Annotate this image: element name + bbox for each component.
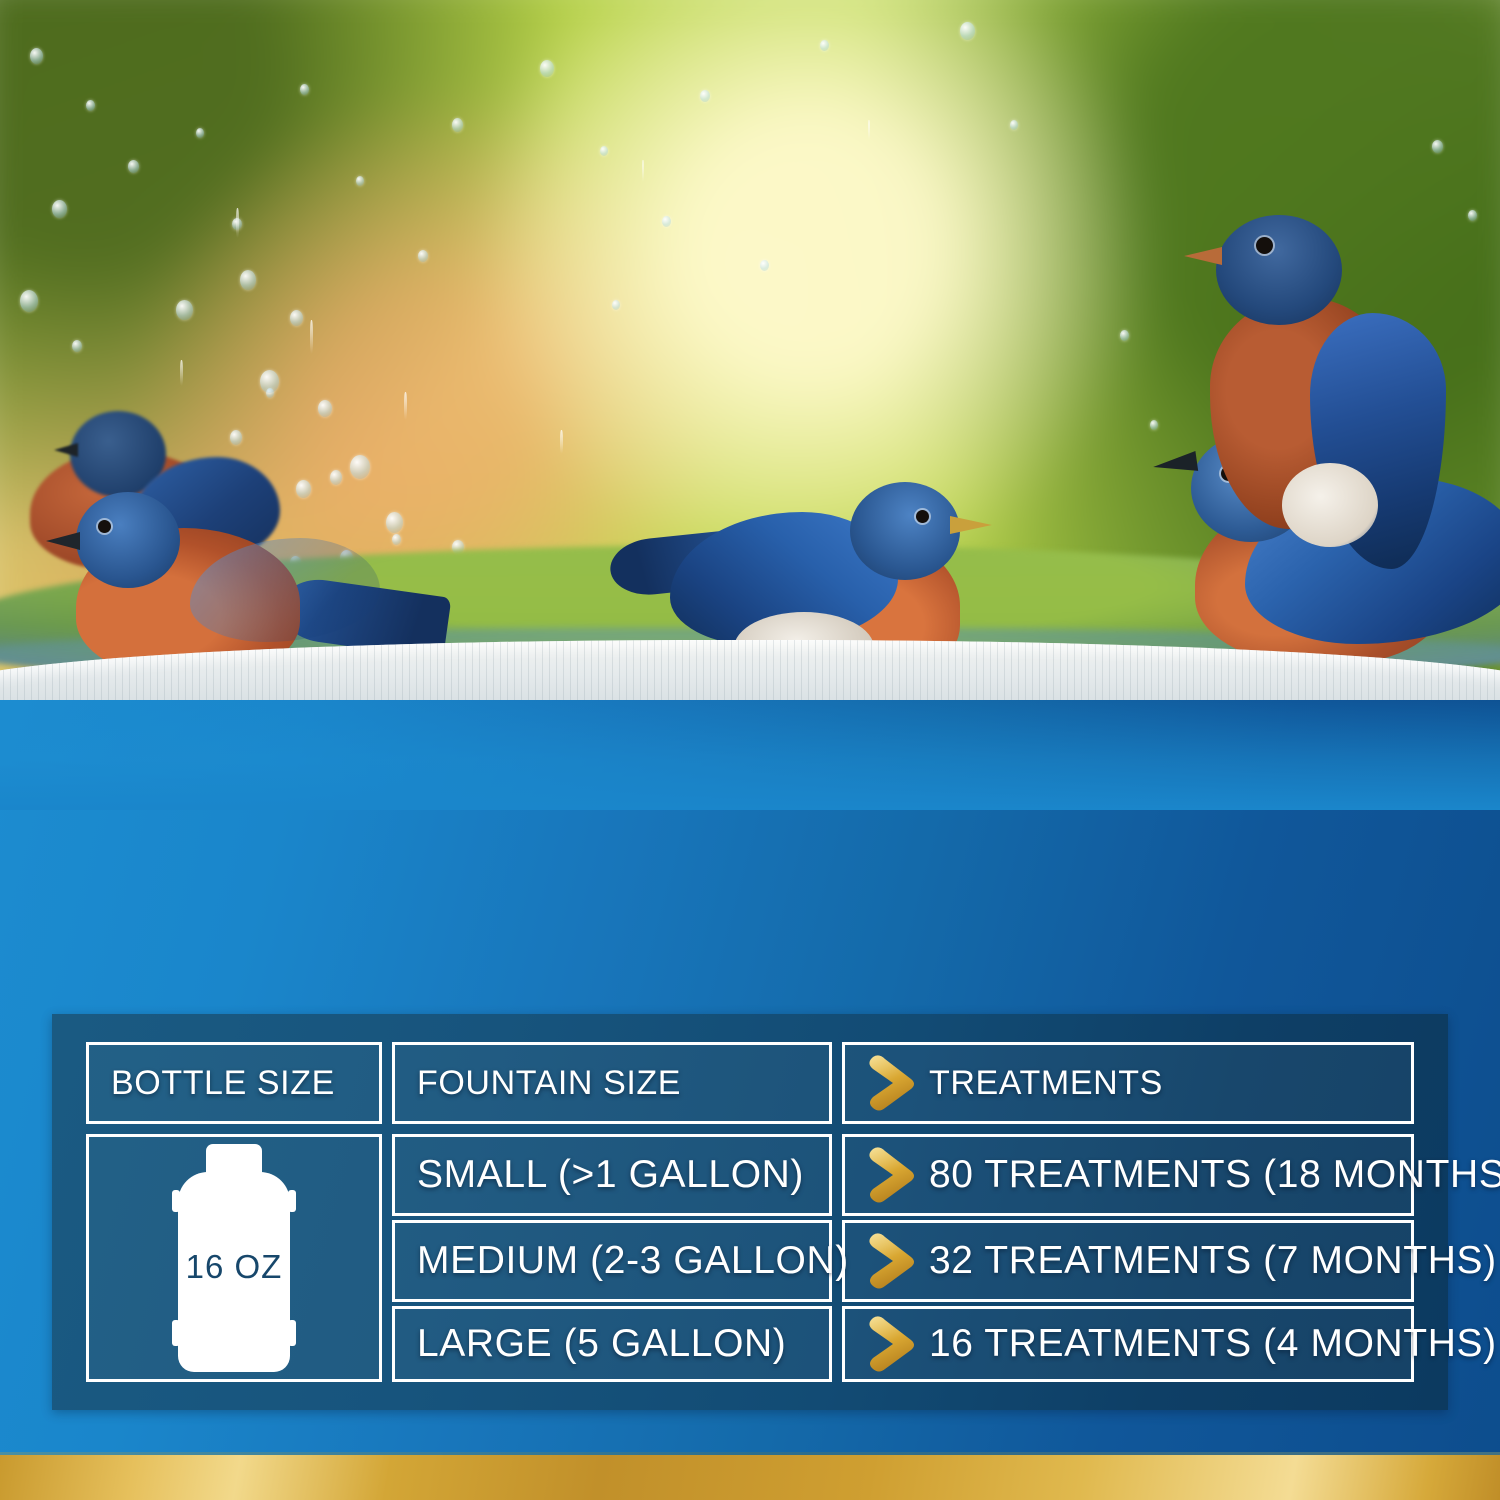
- treatments-small: 80 TREATMENTS (18 MONTHS): [845, 1153, 1500, 1197]
- header-fountain-size-label: FOUNTAIN SIZE: [395, 1064, 681, 1103]
- bottle-size-cell: 16 OZ: [86, 1134, 382, 1382]
- bluebird-right-back: [1160, 205, 1480, 585]
- bird-head: [850, 482, 960, 580]
- gold-chevron-right-icon: [861, 1145, 917, 1205]
- fountain-size-large: LARGE (5 GALLON): [395, 1322, 786, 1366]
- gold-chevron-right-icon: [861, 1314, 917, 1374]
- bottle-foot-left: [172, 1320, 180, 1346]
- headline-row: GREAT VALUE! ONE OUNCE A WEEK WILL TREAT…: [0, 820, 1500, 980]
- bird-eye: [1256, 237, 1273, 254]
- fountain-size-small: SMALL (>1 GALLON): [395, 1153, 804, 1197]
- fountain-size-medium: MEDIUM (2-3 GALLON): [395, 1239, 849, 1283]
- header-bottle-size-label: BOTTLE SIZE: [89, 1064, 335, 1103]
- table-header-fountain-size: FOUNTAIN SIZE: [392, 1042, 832, 1124]
- gold-footer-band: [0, 1455, 1500, 1500]
- bird-head: [1216, 215, 1342, 325]
- treatments-large: 16 TREATMENTS (4 MONTHS): [845, 1322, 1497, 1366]
- table-header-bottle-size: BOTTLE SIZE: [86, 1042, 382, 1124]
- bird-beak: [54, 443, 78, 457]
- bottle-foot-right: [288, 1320, 296, 1346]
- treatments-table-panel: BOTTLE SIZE FOUNTAIN SIZE TREATMENTS: [52, 1014, 1448, 1410]
- table-row: 80 TREATMENTS (18 MONTHS): [842, 1134, 1414, 1216]
- gold-chevron-right-icon: [861, 1053, 917, 1113]
- bird-head: [76, 492, 180, 588]
- bird-beak: [46, 532, 80, 550]
- bird-eye: [916, 510, 929, 523]
- gold-chevron-right-icon: [861, 1231, 917, 1291]
- bird-belly-white: [1282, 463, 1378, 547]
- bottle-lip-right: [288, 1190, 296, 1212]
- bottle-body: [178, 1200, 290, 1372]
- bird-beak: [950, 516, 992, 534]
- treatments-table: BOTTLE SIZE FOUNTAIN SIZE TREATMENTS: [86, 1042, 1414, 1382]
- table-row: MEDIUM (2-3 GALLON): [392, 1220, 832, 1302]
- table-row: LARGE (5 GALLON): [392, 1306, 832, 1382]
- bottle-lip-left: [172, 1190, 180, 1212]
- bluebird-birdbath-photo: [0, 0, 1500, 760]
- table-row: 32 TREATMENTS (7 MONTHS): [842, 1220, 1414, 1302]
- bottle-size-label: 16 OZ: [170, 1248, 298, 1286]
- bird-eye: [98, 520, 111, 533]
- white-bottle-icon: 16 OZ: [170, 1144, 298, 1372]
- product-infographic: GREAT VALUE! ONE OUNCE A WEEK WILL TREAT…: [0, 0, 1500, 1500]
- treatments-medium: 32 TREATMENTS (7 MONTHS): [845, 1239, 1497, 1283]
- table-row: 16 TREATMENTS (4 MONTHS): [842, 1306, 1414, 1382]
- bird-beak: [1184, 247, 1222, 265]
- table-row: SMALL (>1 GALLON): [392, 1134, 832, 1216]
- table-header-treatments: TREATMENTS: [842, 1042, 1414, 1124]
